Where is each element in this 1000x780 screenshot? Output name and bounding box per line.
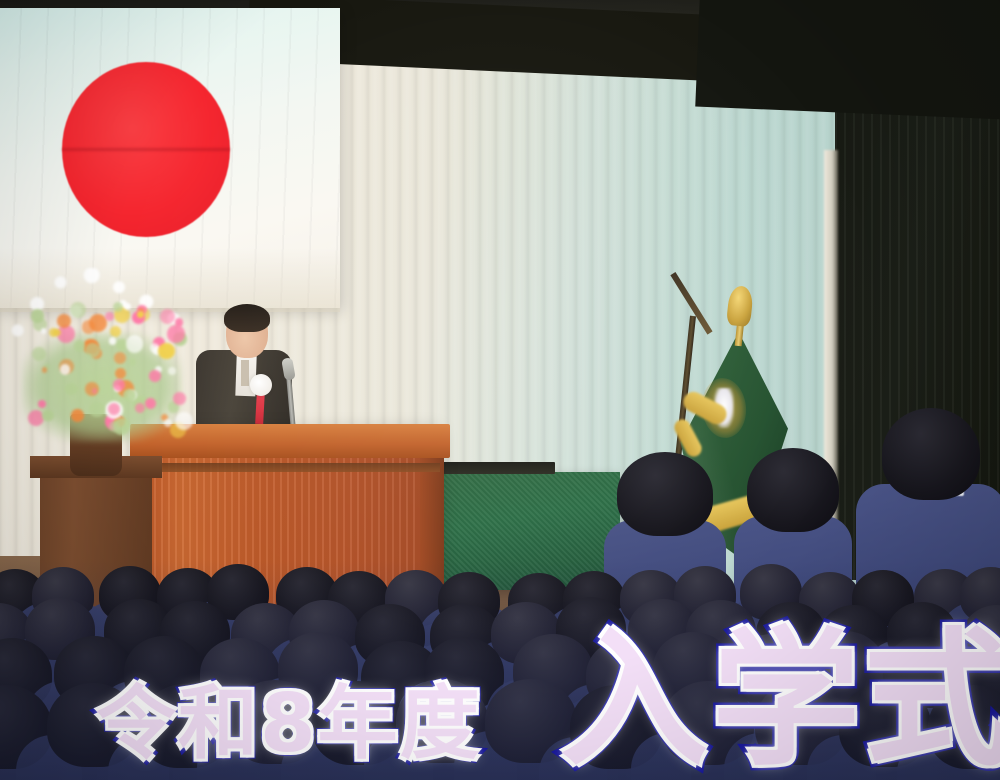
flower-blossom [32,347,46,361]
flower-blossom [74,340,86,352]
flower-blossom [71,409,84,422]
flower-blossom [92,388,97,393]
flower-blossom [149,370,161,382]
flower-blossom [89,402,104,417]
flower-blossom [42,410,54,422]
flower-blossom [123,389,136,402]
ceremony-photograph: 令和8年度 入学式 [0,0,1000,780]
standing-student-head [617,452,713,536]
rosette-ribbon [255,392,265,424]
flower-blossom [108,403,120,415]
japanese-flag-crease [62,148,230,151]
flower-blossom [168,367,175,374]
standing-student-head [747,448,839,532]
flower-blossom [167,325,184,342]
flower-blossom [82,320,96,334]
ceremonial-rosette-icon [250,374,272,396]
speaker-hair [224,304,270,332]
crowd-shadow [0,560,1000,780]
flower-blossom [38,400,46,408]
standing-student-head [882,408,980,500]
flower-blossom [105,312,114,321]
flower-blossom [70,302,86,318]
flower-blossom [60,364,70,374]
flower-blossom [113,379,125,391]
flower-blossom [115,368,126,379]
flower-blossom [42,367,48,373]
flower-blossom [173,392,186,405]
flower-blossom [113,302,123,312]
flower-blossom [110,326,121,337]
speaker-necktie [241,360,249,386]
side-curtain-top [695,0,1000,120]
flower-blossom [158,343,175,360]
flower-blossom [49,328,58,337]
flower-blossom [129,358,136,365]
flower-blossom [124,303,131,310]
flower-blossom [109,337,116,344]
flower-blossom [57,314,71,328]
